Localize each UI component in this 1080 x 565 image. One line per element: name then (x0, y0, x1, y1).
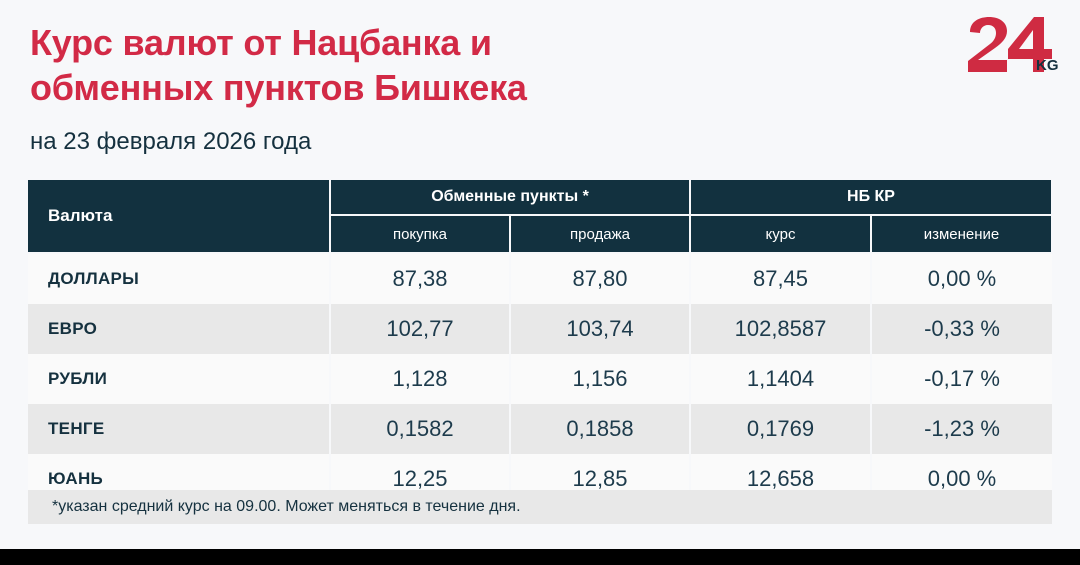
cell-currency: РУБЛИ (28, 354, 330, 404)
page-title: Курс валют от Нацбанка и обменных пункто… (30, 20, 930, 111)
column-header-currency: Валюта (28, 179, 330, 253)
table-row: ТЕНГЕ 0,1582 0,1858 0,1769 -1,23 % (28, 404, 1052, 454)
cell-buy: 102,77 (330, 304, 510, 354)
cell-buy: 87,38 (330, 253, 510, 304)
cell-change: -1,23 % (871, 404, 1052, 454)
cell-change: -0,17 % (871, 354, 1052, 404)
cell-rate: 1,1404 (690, 354, 871, 404)
cell-sell: 0,1858 (510, 404, 690, 454)
column-header-rate: курс (690, 215, 871, 253)
logo-kg-text: KG (1036, 57, 1058, 74)
page-subtitle-date: на 23 февраля 2026 года (30, 111, 930, 157)
rates-table-wrapper: Валюта Обменные пункты * НБ КР покупка п… (28, 178, 1052, 504)
cell-rate: 87,45 (690, 253, 871, 304)
bottom-bar (0, 549, 1080, 565)
footnote: *указан средний курс на 09.00. Может мен… (28, 490, 1052, 524)
cell-change: -0,33 % (871, 304, 1052, 354)
table-head: Валюта Обменные пункты * НБ КР покупка п… (28, 179, 1052, 253)
table-body: ДОЛЛАРЫ 87,38 87,80 87,45 0,00 % ЕВРО 10… (28, 253, 1052, 504)
cell-buy: 0,1582 (330, 404, 510, 454)
title-block: Курс валют от Нацбанка и обменных пункто… (30, 20, 930, 157)
cell-currency: ТЕНГЕ (28, 404, 330, 454)
cell-currency: ДОЛЛАРЫ (28, 253, 330, 304)
column-group-header-nbkr: НБ КР (690, 179, 1052, 215)
table-head-row-groups: Валюта Обменные пункты * НБ КР (28, 179, 1052, 215)
column-group-header-exchange-points: Обменные пункты * (330, 179, 690, 215)
rates-table: Валюта Обменные пункты * НБ КР покупка п… (28, 178, 1053, 504)
table-row: ДОЛЛАРЫ 87,38 87,80 87,45 0,00 % (28, 253, 1052, 304)
cell-currency: ЕВРО (28, 304, 330, 354)
table-row: РУБЛИ 1,128 1,156 1,1404 -0,17 % (28, 354, 1052, 404)
column-header-change: изменение (871, 215, 1052, 253)
cell-rate: 102,8587 (690, 304, 871, 354)
page-title-line-1: Курс валют от Нацбанка и (30, 22, 492, 63)
infographic-page: Курс валют от Нацбанка и обменных пункто… (0, 0, 1080, 565)
cell-buy: 1,128 (330, 354, 510, 404)
page-title-line-2: обменных пунктов Бишкека (30, 67, 527, 108)
cell-change: 0,00 % (871, 253, 1052, 304)
header: Курс валют от Нацбанка и обменных пункто… (0, 0, 1080, 165)
logo-24kg[interactable]: KG (966, 16, 1058, 74)
cell-sell: 87,80 (510, 253, 690, 304)
column-header-sell: продажа (510, 215, 690, 253)
cell-sell: 103,74 (510, 304, 690, 354)
table-row: ЕВРО 102,77 103,74 102,8587 -0,33 % (28, 304, 1052, 354)
cell-rate: 0,1769 (690, 404, 871, 454)
column-header-buy: покупка (330, 215, 510, 253)
cell-sell: 1,156 (510, 354, 690, 404)
svg-text:KG: KG (1036, 57, 1058, 74)
